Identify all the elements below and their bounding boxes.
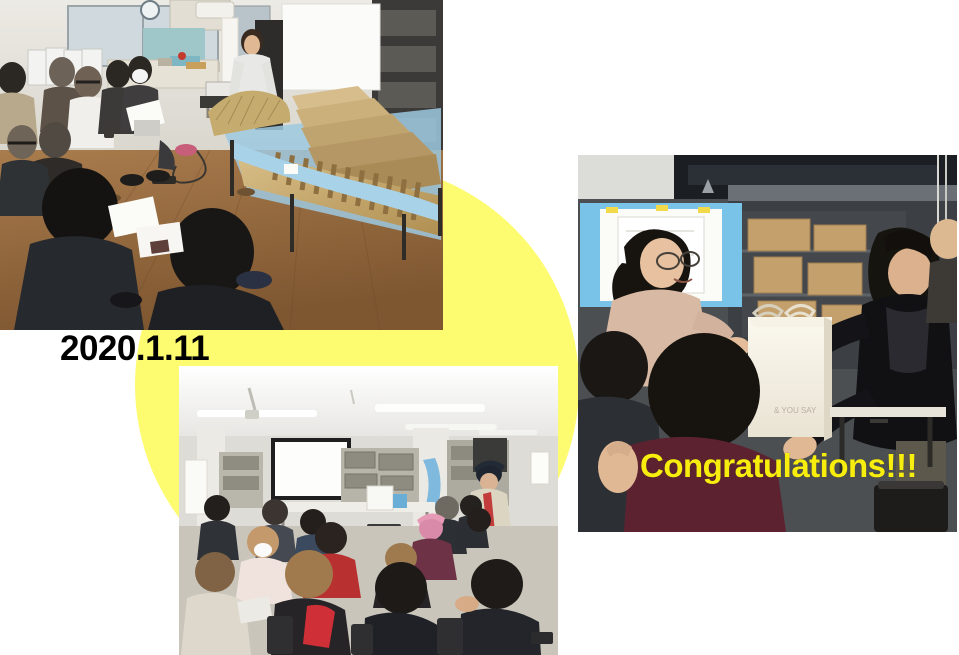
- congratulations-caption: Congratulations!!!: [640, 448, 917, 484]
- slide-canvas: & YOU SAY 2020.1.11 Congratulations!!!: [0, 0, 959, 655]
- date-caption: 2020.1.11: [60, 330, 209, 368]
- presentation-photo: [0, 0, 443, 330]
- lecture-photo: [179, 366, 558, 655]
- svg-text:& YOU SAY: & YOU SAY: [774, 406, 817, 415]
